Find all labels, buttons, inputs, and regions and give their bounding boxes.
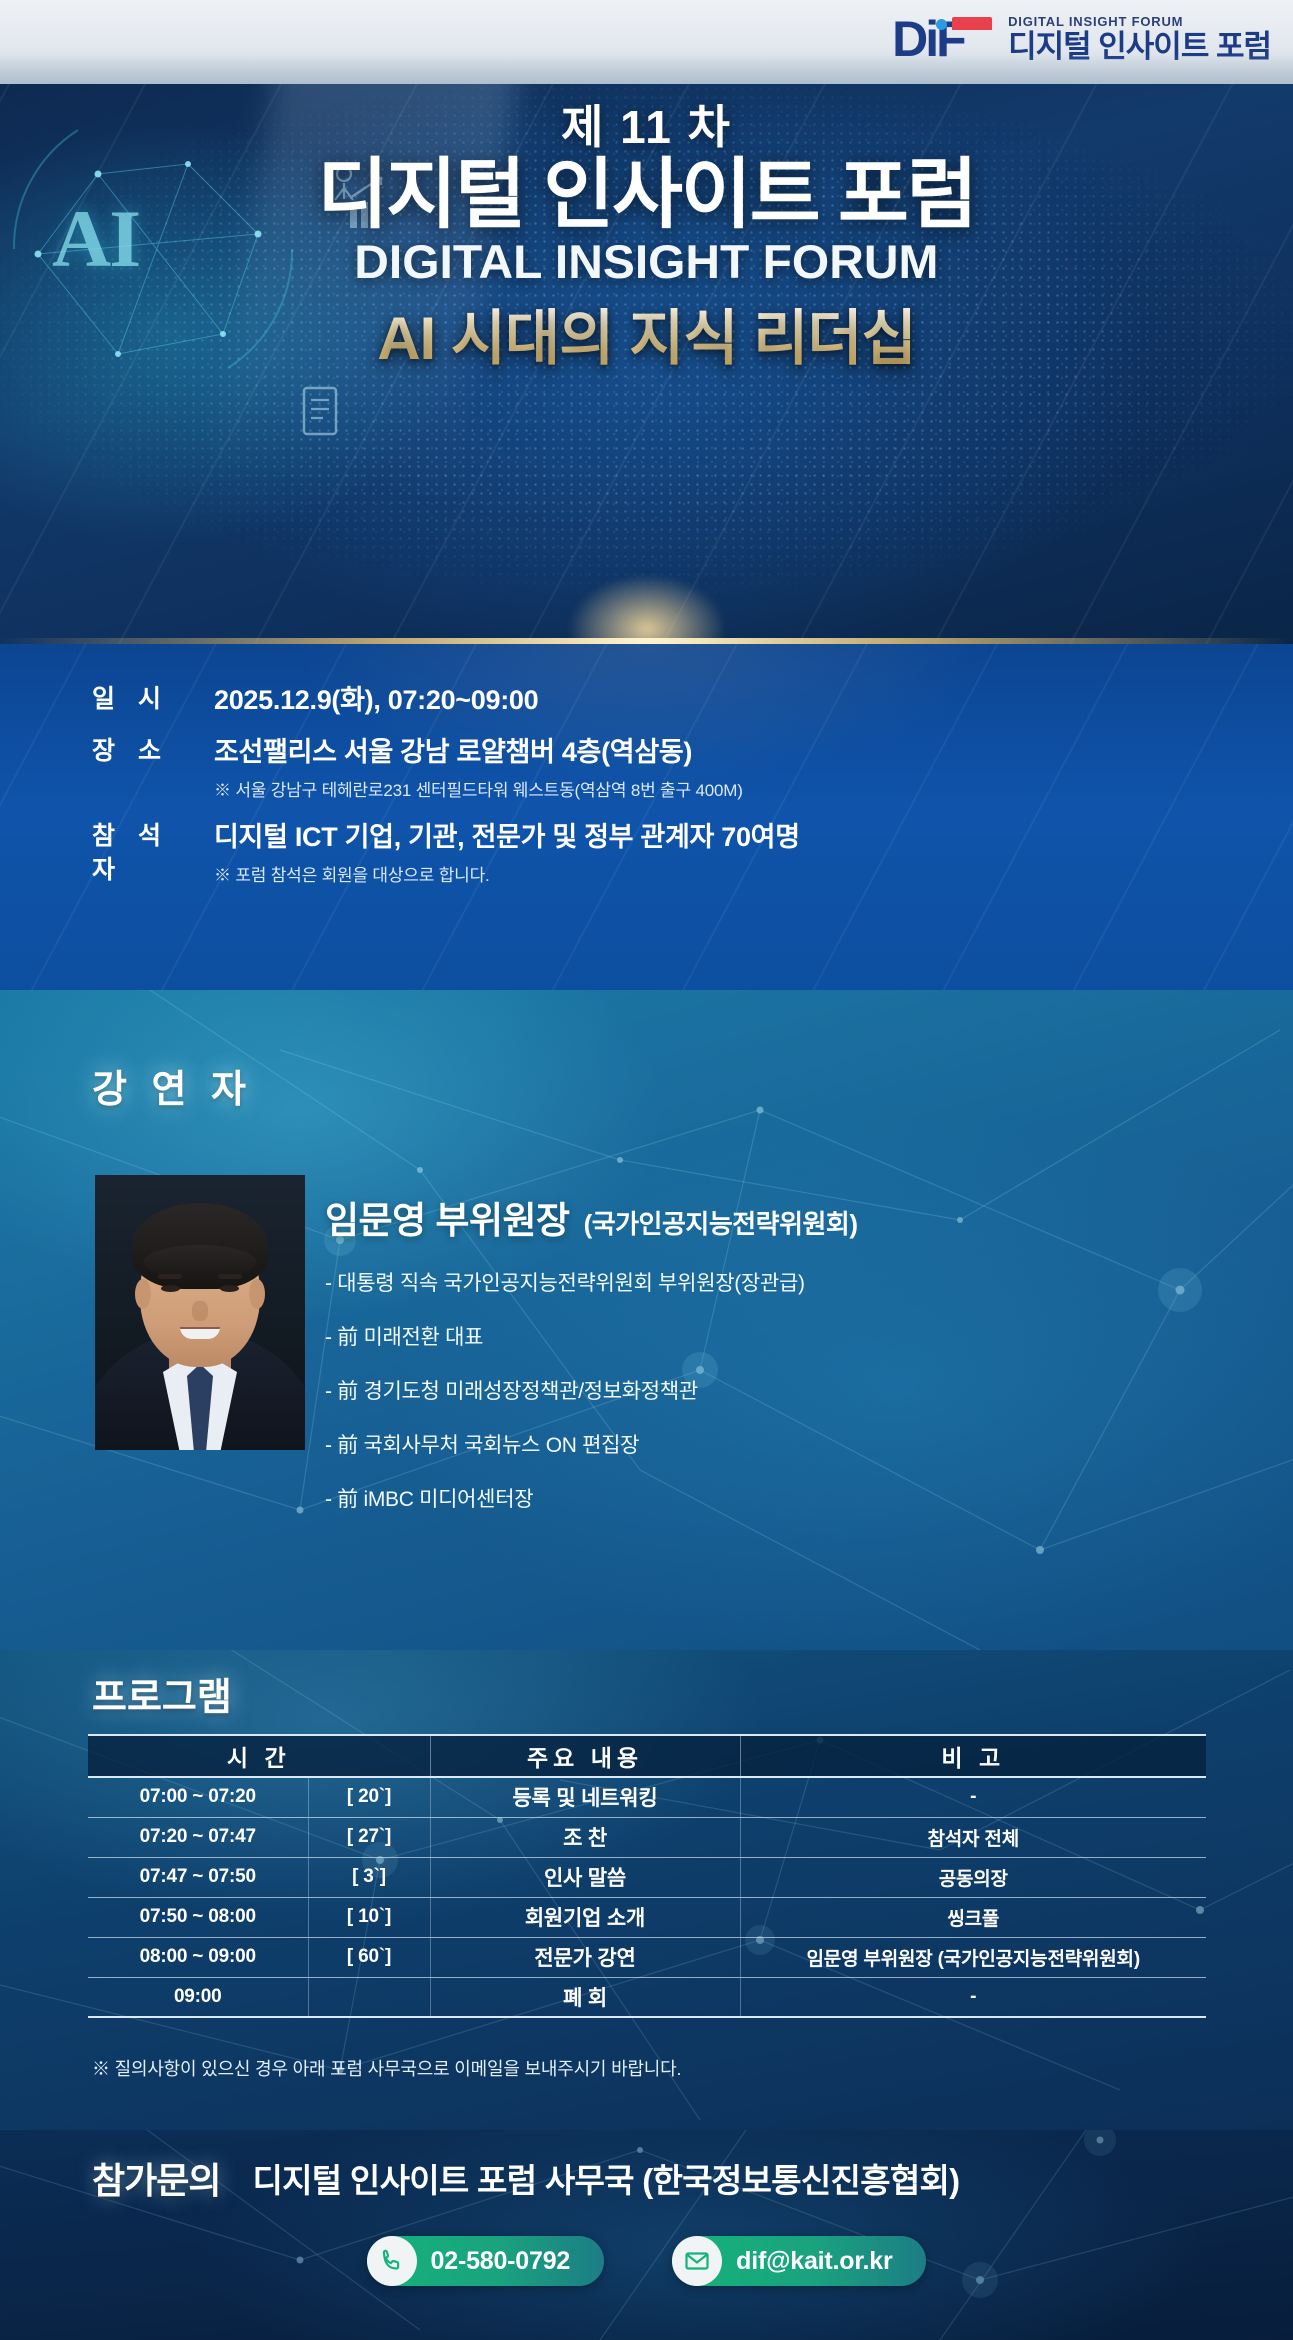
program-cell-topic: 회원기업 소개 xyxy=(430,1897,740,1937)
program-table-body: 07:00 ~ 07:20 [ 20`] 등록 및 네트워킹 - 07:20 ~… xyxy=(88,1777,1206,2017)
program-col-topic: 주요 내용 xyxy=(430,1735,740,1777)
program-footnote: ※ 질의사항이 있으신 경우 아래 포럼 사무국으로 이메일을 보내주시기 바랍… xyxy=(92,2055,681,2081)
brand-names: DIGITAL INSIGHT FORUM 디지털 인사이트 포럼 xyxy=(1008,14,1271,66)
photo-nose xyxy=(192,1301,208,1321)
program-cell-duration: [ 60`] xyxy=(308,1937,430,1977)
info-value-datetime: 2025.12.9(화), 07:20~09:00 xyxy=(214,682,1253,718)
photo-ear-right xyxy=(249,1279,265,1309)
program-cell-time: 09:00 xyxy=(88,1977,308,2017)
program-col-note: 비 고 xyxy=(740,1735,1206,1777)
dif-logotype: DiF xyxy=(892,14,996,66)
program-cell-note: 씽크풀 xyxy=(740,1897,1206,1937)
program-cell-time: 07:47 ~ 07:50 xyxy=(88,1857,308,1897)
table-row: 07:20 ~ 07:47 [ 27`] 조 찬 참석자 전체 xyxy=(88,1817,1206,1857)
program-cell-note: 공동의장 xyxy=(740,1857,1206,1897)
program-cell-time: 07:50 ~ 08:00 xyxy=(88,1897,308,1937)
program-cell-time: 08:00 ~ 09:00 xyxy=(88,1937,308,1977)
program-cell-topic: 조 찬 xyxy=(430,1817,740,1857)
hero-title-kr: 디지털 인사이트 포럼 xyxy=(317,152,975,238)
phone-icon-circle xyxy=(367,2236,417,2286)
info-value-attendees: 디지털 ICT 기업, 기관, 전문가 및 정부 관계자 70여명 xyxy=(214,819,1253,855)
program-cell-topic: 폐 회 xyxy=(430,1977,740,2017)
program-cell-topic: 인사 말씀 xyxy=(430,1857,740,1897)
photo-brow-left xyxy=(158,1274,182,1279)
speaker-photo xyxy=(95,1175,305,1450)
photo-ear-left xyxy=(135,1279,151,1309)
speaker-bio-item: - 前 경기도청 미래성장정책관/정보화정책관 xyxy=(325,1378,1253,1406)
speaker-bio-item: - 前 미래전환 대표 xyxy=(325,1324,1253,1352)
info-value-venue-col: 조선팰리스 서울 강남 로얄챔버 4층(역삼동) ※ 서울 강남구 테헤란로23… xyxy=(214,734,1253,803)
program-table-head: 시 간 주요 내용 비 고 xyxy=(88,1735,1206,1777)
photo-eye-left xyxy=(161,1285,180,1292)
info-label-venue: 장 소 xyxy=(92,734,214,768)
event-info-rows: 일 시 2025.12.9(화), 07:20~09:00 장 소 조선팰리스 … xyxy=(92,682,1253,904)
speaker-details: 임문영 부위원장 (국가인공지능전략위원회) - 대통령 직속 국가인공지능전략… xyxy=(325,1190,1253,1540)
event-poster: DiF DIGITAL INSIGHT FORUM 디지털 인사이트 포럼 xyxy=(0,0,1293,2340)
info-value-attendees-col: 디지털 ICT 기업, 기관, 전문가 및 정부 관계자 70여명 ※ 포럼 참… xyxy=(214,819,1253,888)
program-cell-topic: 전문가 강연 xyxy=(430,1937,740,1977)
speaker-bio-item: - 前 iMBC 미디어센터장 xyxy=(325,1486,1253,1514)
contact-heading-row: 참가문의 디지털 인사이트 포럼 사무국 (한국정보통신진흥협회) xyxy=(92,2152,1263,2204)
hero-title-en: DIGITAL INSIGHT FORUM xyxy=(354,236,938,288)
envelope-icon xyxy=(683,2247,711,2275)
info-value-venue: 조선팰리스 서울 강남 로얄챔버 4층(역삼동) xyxy=(214,734,1253,770)
hero-banner: AI 제 11 차 디지털 인사이트 포럼 DIGITAL INSIGHT FO… xyxy=(0,84,1293,644)
hero-center-glow xyxy=(567,574,727,644)
info-row-datetime: 일 시 2025.12.9(화), 07:20~09:00 xyxy=(92,682,1253,718)
hero-slogan: AI 시대의 지식 리더십 xyxy=(377,304,916,374)
speaker-bio-item: - 대통령 직속 국가인공지능전략위원회 부위원장(장관급) xyxy=(325,1270,1253,1298)
photo-hair xyxy=(132,1203,268,1289)
contact-office-name: 디지털 인사이트 포럼 사무국 (한국정보통신진흥협회) xyxy=(252,2154,959,2202)
speaker-organization: (국가인공지능전략위원회) xyxy=(584,1204,858,1241)
email-address: dif@kait.or.kr xyxy=(736,2247,892,2276)
brand-name-en: DIGITAL INSIGHT FORUM xyxy=(1008,14,1271,29)
info-value-datetime-col: 2025.12.9(화), 07:20~09:00 xyxy=(214,682,1253,718)
info-label-attendees: 참 석 자 xyxy=(92,819,214,887)
program-cell-note: 참석자 전체 xyxy=(740,1817,1206,1857)
email-pill[interactable]: dif@kait.or.kr xyxy=(672,2236,926,2286)
photo-mouth xyxy=(180,1327,220,1339)
contact-pills: 02-580-0792 dif@kait.or.kr xyxy=(0,2236,1293,2286)
hero-round-label: 제 11 차 xyxy=(561,98,732,156)
event-info-section: 일 시 2025.12.9(화), 07:20~09:00 장 소 조선팰리스 … xyxy=(0,644,1293,990)
photo-brow-right xyxy=(218,1274,242,1279)
table-row: 08:00 ~ 09:00 [ 60`] 전문가 강연 임문영 부위원장 (국가… xyxy=(88,1937,1206,1977)
dif-logo-redbar-icon xyxy=(952,17,992,30)
program-col-time: 시 간 xyxy=(88,1735,430,1777)
table-row: 07:50 ~ 08:00 [ 10`] 회원기업 소개 씽크풀 xyxy=(88,1897,1206,1937)
speaker-section: 강 연 자 임문영 부위원장 (국가인공지능전략위원회) - 대통 xyxy=(0,990,1293,1650)
program-cell-duration: [ 20`] xyxy=(308,1777,430,1817)
contact-section: 참가문의 디지털 인사이트 포럼 사무국 (한국정보통신진흥협회) 02-580… xyxy=(0,2130,1293,2340)
info-label-datetime: 일 시 xyxy=(92,682,214,716)
info-note-attendees: ※ 포럼 참석은 회원을 대상으로 합니다. xyxy=(214,864,1253,888)
program-cell-note: 임문영 부위원장 (국가인공지능전략위원회) xyxy=(740,1937,1206,1977)
program-cell-duration: [ 10`] xyxy=(308,1897,430,1937)
phone-pill[interactable]: 02-580-0792 xyxy=(367,2236,605,2286)
info-note-venue: ※ 서울 강남구 테헤란로231 센터필드타워 웨스트동(역삼역 8번 출구 4… xyxy=(214,779,1253,803)
speaker-name-line: 임문영 부위원장 (국가인공지능전략위원회) xyxy=(325,1190,1253,1244)
program-cell-topic: 등록 및 네트워킹 xyxy=(430,1777,740,1817)
speaker-name: 임문영 부위원장 xyxy=(325,1190,570,1244)
phone-icon xyxy=(378,2248,405,2275)
table-row: 07:00 ~ 07:20 [ 20`] 등록 및 네트워킹 - xyxy=(88,1777,1206,1817)
brand-header: DiF DIGITAL INSIGHT FORUM 디지털 인사이트 포럼 xyxy=(0,0,1293,84)
info-row-venue: 장 소 조선팰리스 서울 강남 로얄챔버 4층(역삼동) ※ 서울 강남구 테헤… xyxy=(92,734,1253,803)
email-icon-circle xyxy=(672,2236,722,2286)
info-row-attendees: 참 석 자 디지털 ICT 기업, 기관, 전문가 및 정부 관계자 70여명 … xyxy=(92,819,1253,888)
brand-name-kr: 디지털 인사이트 포럼 xyxy=(1008,30,1271,64)
dif-logo: DiF DIGITAL INSIGHT FORUM 디지털 인사이트 포럼 xyxy=(892,14,1271,66)
contact-badge: 참가문의 xyxy=(92,2152,220,2204)
phone-number: 02-580-0792 xyxy=(431,2247,571,2276)
program-section-title: 프로그램 xyxy=(92,1666,232,1721)
program-cell-note: - xyxy=(740,1977,1206,2017)
hero-text-stack: 제 11 차 디지털 인사이트 포럼 DIGITAL INSIGHT FORUM… xyxy=(0,84,1293,644)
program-cell-duration: [ 27`] xyxy=(308,1817,430,1857)
table-row: 09:00 폐 회 - xyxy=(88,1977,1206,2017)
photo-eye-right xyxy=(220,1285,239,1292)
speaker-bio-item: - 前 국회사무처 국회뉴스 ON 편집장 xyxy=(325,1432,1253,1460)
program-cell-duration: [ 3`] xyxy=(308,1857,430,1897)
program-section: 프로그램 시 간 주요 내용 비 고 07:00 ~ 07:20 [ 20`] … xyxy=(0,1650,1293,2130)
table-row: 07:47 ~ 07:50 [ 3`] 인사 말씀 공동의장 xyxy=(88,1857,1206,1897)
program-cell-note: - xyxy=(740,1777,1206,1817)
program-cell-time: 07:20 ~ 07:47 xyxy=(88,1817,308,1857)
program-header-row: 시 간 주요 내용 비 고 xyxy=(88,1735,1206,1777)
program-table: 시 간 주요 내용 비 고 07:00 ~ 07:20 [ 20`] 등록 및 … xyxy=(88,1734,1206,2018)
program-cell-time: 07:00 ~ 07:20 xyxy=(88,1777,308,1817)
speaker-bio-list: - 대통령 직속 국가인공지능전략위원회 부위원장(장관급) - 前 미래전환 … xyxy=(325,1270,1253,1514)
program-cell-duration xyxy=(308,1977,430,2017)
speaker-section-title: 강 연 자 xyxy=(92,1058,253,1113)
